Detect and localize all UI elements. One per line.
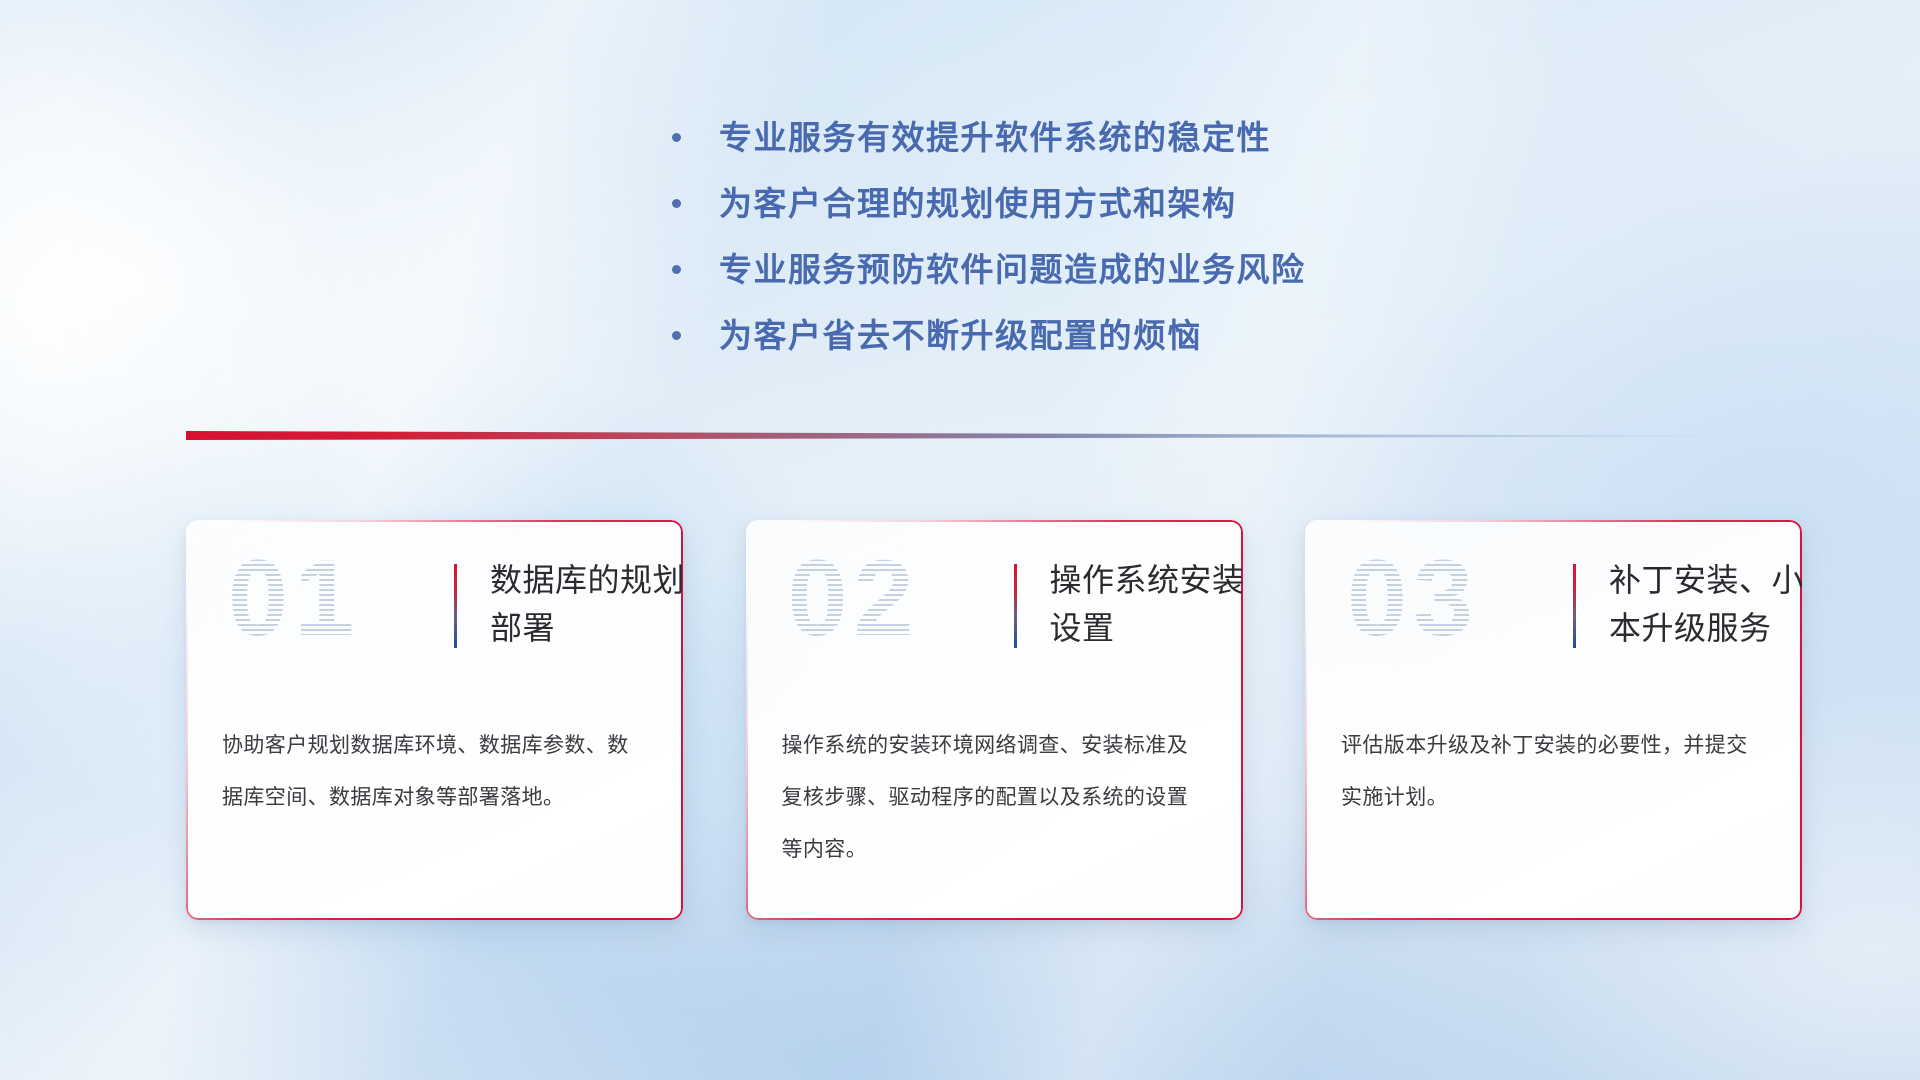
card-title: 数据库的规划与部署 bbox=[490, 556, 683, 652]
list-item: 专业服务有效提升软件系统的稳定性 bbox=[672, 104, 1306, 170]
card-step-number: 01 bbox=[228, 544, 360, 652]
card-title-rule bbox=[1573, 564, 1576, 648]
card-header: 03 补丁安装、小版本升级服务 bbox=[1341, 556, 1762, 676]
card-step-number: 02 bbox=[788, 544, 920, 652]
card-description: 操作系统的安装环境网络调查、安装标准及复核步骤、驱动程序的配置以及系统的设置等内… bbox=[782, 720, 1203, 876]
bullet-dot-icon bbox=[672, 265, 681, 274]
service-card-group: 01 数据库的规划与部署 协助客户规划数据库环境、数据库参数、数据库空间、数据库… bbox=[186, 520, 1802, 920]
service-card[interactable]: 03 补丁安装、小版本升级服务 评估版本升级及补丁安装的必要性，并提交实施计划。 bbox=[1305, 520, 1802, 920]
bullet-dot-icon bbox=[672, 133, 681, 142]
bullet-text: 为客户合理的规划使用方式和架构 bbox=[719, 187, 1237, 220]
slide-canvas: 专业服务有效提升软件系统的稳定性 为客户合理的规划使用方式和架构 专业服务预防软… bbox=[0, 0, 1920, 1080]
list-item: 为客户合理的规划使用方式和架构 bbox=[672, 170, 1306, 236]
bullet-dot-icon bbox=[672, 331, 681, 340]
card-header: 02 操作系统安装与设置 bbox=[782, 556, 1203, 676]
list-item: 为客户省去不断升级配置的烦恼 bbox=[672, 302, 1306, 368]
list-item: 专业服务预防软件问题造成的业务风险 bbox=[672, 236, 1306, 302]
bullet-text: 专业服务预防软件问题造成的业务风险 bbox=[719, 253, 1306, 286]
card-description: 评估版本升级及补丁安装的必要性，并提交实施计划。 bbox=[1341, 720, 1762, 824]
bullet-dot-icon bbox=[672, 199, 681, 208]
card-content: 02 操作系统安装与设置 操作系统的安装环境网络调查、安装标准及复核步骤、驱动程… bbox=[746, 520, 1243, 920]
card-step-number: 03 bbox=[1347, 544, 1479, 652]
card-header: 01 数据库的规划与部署 bbox=[222, 556, 643, 676]
service-card[interactable]: 02 操作系统安装与设置 操作系统的安装环境网络调查、安装标准及复核步骤、驱动程… bbox=[746, 520, 1243, 920]
card-title: 操作系统安装与设置 bbox=[1050, 556, 1243, 652]
tapered-rule-icon bbox=[186, 425, 1736, 447]
card-title-rule bbox=[1014, 564, 1017, 648]
benefits-bullet-list: 专业服务有效提升软件系统的稳定性 为客户合理的规划使用方式和架构 专业服务预防软… bbox=[672, 104, 1306, 368]
card-content: 01 数据库的规划与部署 协助客户规划数据库环境、数据库参数、数据库空间、数据库… bbox=[186, 520, 683, 920]
card-title: 补丁安装、小版本升级服务 bbox=[1609, 556, 1802, 652]
section-divider bbox=[186, 425, 1736, 447]
card-content: 03 补丁安装、小版本升级服务 评估版本升级及补丁安装的必要性，并提交实施计划。 bbox=[1305, 520, 1802, 920]
card-description: 协助客户规划数据库环境、数据库参数、数据库空间、数据库对象等部署落地。 bbox=[222, 720, 643, 824]
card-title-rule bbox=[454, 564, 457, 648]
service-card[interactable]: 01 数据库的规划与部署 协助客户规划数据库环境、数据库参数、数据库空间、数据库… bbox=[186, 520, 683, 920]
bullet-text: 为客户省去不断升级配置的烦恼 bbox=[719, 319, 1202, 352]
bullet-text: 专业服务有效提升软件系统的稳定性 bbox=[719, 121, 1271, 154]
